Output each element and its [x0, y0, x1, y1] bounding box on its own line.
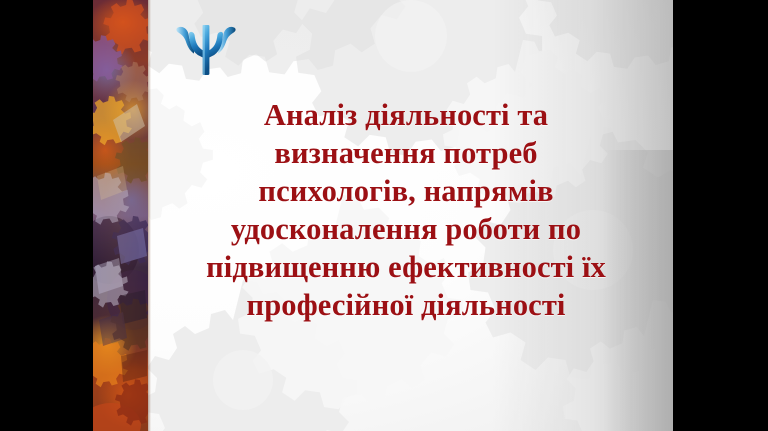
- title-line-4: удосконалення роботи по: [156, 210, 656, 248]
- psi-greek-letter-icon: [173, 14, 239, 76]
- abstract-gears-artwork-strip: [93, 0, 148, 431]
- letterbox-bar-right: [673, 0, 768, 431]
- title-line-6: професійної діяльності: [156, 286, 656, 324]
- title-line-5: підвищенню ефективності їх: [156, 248, 656, 286]
- artwork-strip-edge-shadow: [148, 0, 151, 431]
- slide-content-area: Аналіз діяльності та визначення потреб п…: [93, 0, 673, 431]
- slide-title: Аналіз діяльності та визначення потреб п…: [156, 96, 656, 324]
- presentation-slide: Аналіз діяльності та визначення потреб п…: [0, 0, 768, 431]
- letterbox-bar-left: [0, 0, 93, 431]
- title-line-1: Аналіз діяльності та: [156, 96, 656, 134]
- title-line-3: психологів, напрямів: [156, 172, 656, 210]
- title-line-2: визначення потреб: [156, 134, 656, 172]
